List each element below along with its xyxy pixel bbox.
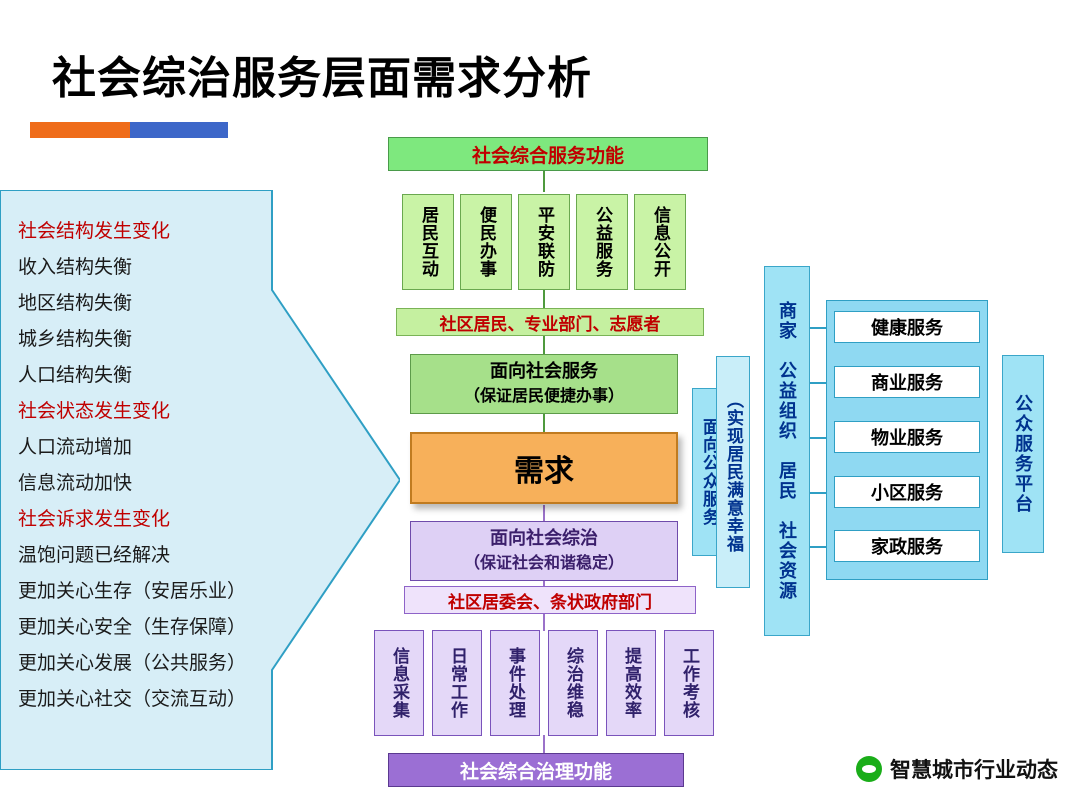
governance-oriented-block: 面向社会综治 （保证社会和谐稳定） [410,521,678,581]
public-service-platform-label: 公众服务平台 [1002,355,1044,553]
service-housekeeping[interactable]: 家政服务 [834,530,980,562]
service-item-safety[interactable]: 平安联防 [518,194,570,290]
connector-line [543,613,545,631]
connector-line [543,412,545,432]
governance-item-daily-work[interactable]: 日常工作 [432,630,482,736]
service-item-resident-interaction[interactable]: 居民互动 [402,194,454,290]
service-item-information-disclosure[interactable]: 信息公开 [634,194,686,290]
connector-line [543,288,545,310]
need-change-list: 社会结构发生变化 收入结构失衡 地区结构失衡 城乡结构失衡 人口结构失衡 社会状… [18,214,276,718]
diagram-canvas: 社会综治服务层面需求分析 社会结构发生变化 收入结构失衡 地区结构失衡 城乡结构… [0,0,1080,810]
service-function-header: 社会综合服务功能 [388,137,708,171]
list-item: 城乡结构失衡 [18,322,276,358]
governance-item-stability-maintenance[interactable]: 综治维稳 [548,630,598,736]
governance-item-work-assessment[interactable]: 工作考核 [664,630,714,736]
list-item: 社会状态发生变化 [18,394,276,430]
demand-box: 需求 [410,432,678,504]
accent-bar-segment-blue [130,122,228,138]
connector-line [543,334,545,356]
list-item: 社会结构发生变化 [18,214,276,250]
list-item: 温饱问题已经解决 [18,538,276,574]
resident-happiness-label: （实现居民满意幸福 [716,356,750,588]
brand-account-name: 智慧城市行业动态 [890,754,1058,784]
service-item-convenience[interactable]: 便民办事 [460,194,512,290]
list-item: 地区结构失衡 [18,286,276,322]
accent-bar-segment-orange [30,122,130,138]
governance-actors: 社区居委会、条状政府部门 [404,586,696,614]
governance-oriented-title: 面向社会综治 [490,525,598,551]
service-health[interactable]: 健康服务 [834,311,980,343]
list-item: 人口结构失衡 [18,358,276,394]
accent-bar [30,122,228,138]
left-arrow-panel: 社会结构发生变化 收入结构失衡 地区结构失衡 城乡结构失衡 人口结构失衡 社会状… [0,190,400,770]
social-resources-label: 商家 公益组织 居民 社会资源 [764,266,810,636]
list-item: 人口流动增加 [18,430,276,466]
page-title: 社会综治服务层面需求分析 [52,42,592,106]
service-oriented-subtitle: （保证居民便捷办事） [464,384,624,410]
list-item: 更加关心发展（公共服务） [18,646,276,682]
list-item: 更加关心社交（交流互动） [18,682,276,718]
list-item: 更加关心生存（安居乐业） [18,574,276,610]
service-property[interactable]: 物业服务 [834,421,980,453]
governance-item-information-collection[interactable]: 信息采集 [374,630,424,736]
service-oriented-block: 面向社会服务 （保证居民便捷办事） [410,354,678,414]
governance-function-footer: 社会综合治理功能 [388,753,684,787]
service-actors: 社区居民、专业部门、志愿者 [396,308,704,336]
connector-line [543,168,545,192]
connector-line [543,735,545,755]
list-item: 社会诉求发生变化 [18,502,276,538]
list-item: 信息流动加快 [18,466,276,502]
service-oriented-title: 面向社会服务 [490,358,598,384]
governance-item-efficiency[interactable]: 提高效率 [606,630,656,736]
service-community[interactable]: 小区服务 [834,476,980,508]
list-item: 更加关心安全（生存保障） [18,610,276,646]
governance-oriented-subtitle: （保证社会和谐稳定） [464,551,624,577]
brand-footer: 智慧城市行业动态 [856,754,1058,784]
list-item: 收入结构失衡 [18,250,276,286]
service-item-public-welfare[interactable]: 公益服务 [576,194,628,290]
governance-item-event-handling[interactable]: 事件处理 [490,630,540,736]
wechat-logo-icon [856,756,882,782]
service-commercial[interactable]: 商业服务 [834,366,980,398]
